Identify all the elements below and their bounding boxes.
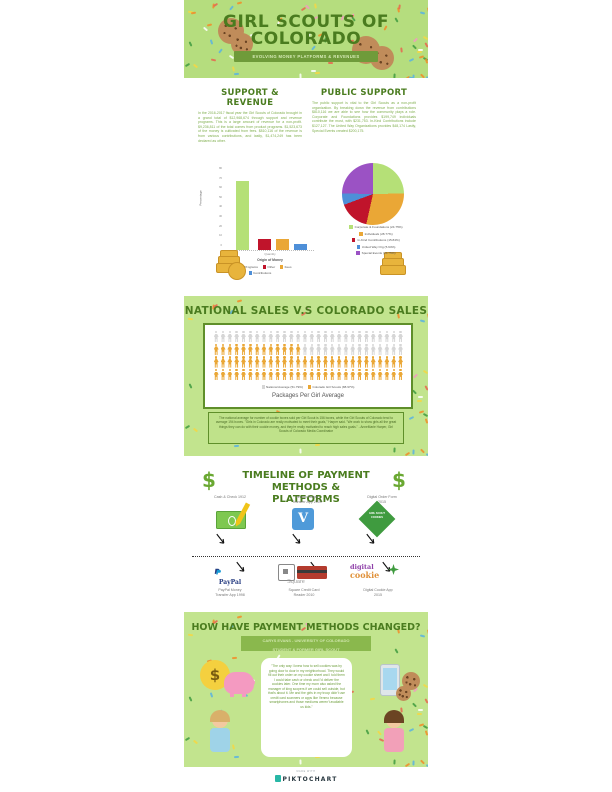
person-icon <box>336 369 342 381</box>
person-icon <box>302 331 308 343</box>
person-icon <box>213 369 219 381</box>
person-icon <box>329 356 335 368</box>
timeline-label-venmo: Venmo Money Transfer App 2009 <box>275 495 339 504</box>
legend-item: Special Events (24.75%) <box>324 250 428 257</box>
person-icon <box>247 356 253 368</box>
person-icon <box>281 344 287 356</box>
y-tick: 0 <box>221 244 222 247</box>
person-icon <box>281 356 287 368</box>
person-icon <box>309 369 315 381</box>
person-icon <box>370 331 376 343</box>
person-icon <box>220 356 226 368</box>
coin-icon <box>380 265 406 275</box>
arrow-down-icon <box>364 532 378 546</box>
person-icon <box>350 331 356 343</box>
hero-title-line-2: COLORADO <box>184 31 428 48</box>
timeline-label-digital-order-form: Digital Order Form 2015 <box>350 495 414 504</box>
person-icon <box>254 369 260 381</box>
person-icon <box>240 331 246 343</box>
coin-icon <box>228 262 246 280</box>
person-icon <box>363 344 369 356</box>
person-icon <box>233 331 239 343</box>
person-icon <box>233 356 239 368</box>
person-icon <box>268 369 274 381</box>
person-icon <box>288 369 294 381</box>
piggy-bank-icon <box>224 672 254 694</box>
person-icon <box>261 331 267 343</box>
person-icon <box>281 369 287 381</box>
legend-swatch <box>349 225 352 229</box>
person-icon <box>336 356 342 368</box>
timeline-title-line-1: TIMELINE OF PAYMENT METHODS & <box>216 470 396 494</box>
person-icon <box>391 331 397 343</box>
legend-label: Fees <box>285 265 292 269</box>
person-icon <box>377 369 383 381</box>
legend-item: Colorado Girl Scouts (88.97%) <box>308 385 354 389</box>
x-axis-tick-label: Quantity <box>226 252 314 256</box>
paypal-logo-icon: PayPal <box>208 564 252 586</box>
girl-illustration <box>380 712 408 752</box>
person-icon <box>397 344 403 356</box>
legend-swatch <box>352 238 355 242</box>
person-icon <box>274 369 280 381</box>
person-icon <box>336 344 342 356</box>
person-icon <box>356 369 362 381</box>
y-tick: 10 <box>219 234 222 237</box>
pictogram-row <box>213 331 403 343</box>
national-sales-section: NATIONAL SALES V.S COLORADO SALES Nation… <box>184 296 428 456</box>
person-icon <box>220 344 226 356</box>
y-tick: 40 <box>219 205 222 208</box>
bar-other <box>258 239 271 250</box>
person-icon <box>268 331 274 343</box>
paypal-wordmark: PayPal <box>208 579 252 586</box>
person-icon <box>322 369 328 381</box>
person-icon <box>315 356 321 368</box>
arrow-down-icon <box>290 532 304 546</box>
person-icon <box>377 356 383 368</box>
pie-chart <box>342 163 404 225</box>
pictogram-caption: Packages Per Girl Average <box>205 393 411 399</box>
timeline-label-cash-check: Cash & Check 1912 <box>198 495 262 500</box>
footer: MADE WITH PIKTOCHART <box>184 767 428 792</box>
person-icon <box>377 344 383 356</box>
person-icon <box>295 369 301 381</box>
square-reader-icon: Square <box>276 564 332 586</box>
person-icon <box>220 369 226 381</box>
person-icon <box>384 356 390 368</box>
public-support-block: PUBLIC SUPPORT The public support is vit… <box>312 88 416 133</box>
person-icon <box>302 344 308 356</box>
person-icon <box>350 344 356 356</box>
cookie-icon <box>396 686 411 701</box>
cookie-word: cookie <box>350 571 404 579</box>
person-icon <box>336 331 342 343</box>
pictogram-grid <box>213 331 403 381</box>
y-tick: 20 <box>219 225 222 228</box>
person-icon <box>261 369 267 381</box>
timeline-label-digital-cookie: Digital Cookie App 2015 <box>346 588 410 597</box>
digital-cookie-logo-icon: digital cookie <box>350 564 404 586</box>
person-icon <box>261 356 267 368</box>
person-icon <box>295 344 301 356</box>
bar-chart: 80 70 60 50 40 30 20 10 0 Percentage Qua… <box>200 168 320 268</box>
label-line-1: Cash & Check 1912 <box>198 495 262 500</box>
person-icon <box>384 369 390 381</box>
hero-subtitle-banner: EVOLVING MONEY PLATFORMS & REVENUES <box>234 51 378 62</box>
bar-chart-y-axis: 80 70 60 50 40 30 20 10 0 Percentage <box>200 168 224 246</box>
person-icon <box>213 331 219 343</box>
person-icon <box>391 344 397 356</box>
person-icon <box>391 369 397 381</box>
person-icon <box>274 331 280 343</box>
person-icon <box>240 344 246 356</box>
person-icon <box>315 369 321 381</box>
bar-chart-plot <box>226 172 314 251</box>
person-icon <box>322 344 328 356</box>
person-icon <box>274 356 280 368</box>
person-icon <box>356 356 362 368</box>
person-icon <box>322 356 328 368</box>
person-icon <box>233 344 239 356</box>
person-icon <box>397 369 403 381</box>
legend-swatch <box>263 265 266 269</box>
legend-label: Colorado Girl Scouts (88.97%) <box>312 385 354 389</box>
person-icon <box>309 331 315 343</box>
infographic-page: GIRL SCOUTS OF COLORADO EVOLVING MONEY P… <box>0 0 612 792</box>
person-icon <box>268 356 274 368</box>
person-icon <box>240 356 246 368</box>
hero-banner: GIRL SCOUTS OF COLORADO EVOLVING MONEY P… <box>184 0 428 78</box>
support-revenue-body: In the 2016-2017 fiscal year the Girl Sc… <box>198 111 302 143</box>
y-axis-label: Percentage <box>199 190 203 205</box>
support-revenue-heading: SUPPORT & REVENUE <box>198 88 302 108</box>
person-icon <box>329 331 335 343</box>
dollar-sign-icon: $ <box>202 468 216 492</box>
infographic-column: GIRL SCOUTS OF COLORADO EVOLVING MONEY P… <box>184 0 428 792</box>
person-icon <box>227 369 233 381</box>
person-icon <box>309 356 315 368</box>
person-icon <box>350 356 356 368</box>
person-icon <box>356 331 362 343</box>
legend-item: National Average (51.79%) <box>262 385 303 389</box>
piktochart-wordmark: PIKTOCHART <box>283 776 338 783</box>
person-icon <box>343 344 349 356</box>
person-icon <box>397 331 403 343</box>
footer-made-with: MADE WITH <box>184 770 428 773</box>
person-icon <box>370 344 376 356</box>
legend-swatch <box>357 245 360 249</box>
person-icon <box>247 369 253 381</box>
legend-swatch <box>262 385 265 389</box>
person-icon <box>343 369 349 381</box>
label-line-2: 2015 <box>350 500 414 505</box>
square-wordmark: Square <box>276 579 316 585</box>
person-icon <box>397 356 403 368</box>
y-tick: 50 <box>219 196 222 199</box>
person-icon <box>356 344 362 356</box>
legend-swatch <box>280 265 283 269</box>
support-revenue-block: SUPPORT & REVENUE In the 2016-2017 fisca… <box>198 88 302 143</box>
pictogram-row <box>213 356 403 368</box>
pictogram-chart: National Average (51.79%) Colorado Girl … <box>203 323 413 409</box>
person-icon <box>363 331 369 343</box>
hero-subtitle: EVOLVING MONEY PLATFORMS & REVENUES <box>234 51 378 62</box>
person-icon <box>261 344 267 356</box>
person-icon <box>240 369 246 381</box>
legend-item: Contributions <box>249 271 272 275</box>
person-icon <box>288 331 294 343</box>
legend-item: Other <box>263 265 275 269</box>
label-line-2: Transfer App 1998 <box>198 593 262 598</box>
person-icon <box>370 369 376 381</box>
person-icon <box>295 356 301 368</box>
person-icon <box>247 331 253 343</box>
pictogram-legend: National Average (51.79%) Colorado Girl … <box>205 385 411 389</box>
attribution-line-2: STUDENT & FORMER GIRL SCOUT <box>241 645 371 654</box>
national-sales-quote: The national average for number of cooki… <box>208 412 404 444</box>
person-icon <box>363 356 369 368</box>
label-line-2: 2015 <box>346 593 410 598</box>
person-icon <box>350 369 356 381</box>
person-icon <box>247 344 253 356</box>
legend-swatch <box>359 232 362 236</box>
person-icon <box>213 356 219 368</box>
page-title: GIRL SCOUTS OF COLORADO <box>184 14 428 48</box>
person-icon <box>213 344 219 356</box>
person-icon <box>233 369 239 381</box>
venmo-letter: V <box>292 508 314 530</box>
y-tick: 80 <box>219 167 222 170</box>
person-icon <box>274 344 280 356</box>
person-icon <box>377 331 383 343</box>
y-tick: 30 <box>219 215 222 218</box>
cookie-box-label: GIRL SCOUT COOKIES <box>364 512 390 525</box>
legend-item: Fees <box>280 265 291 269</box>
legend-label: Special Events (24.75%) <box>362 250 396 257</box>
arrow-down-icon <box>214 532 228 546</box>
public-support-heading: PUBLIC SUPPORT <box>312 88 416 98</box>
person-icon <box>254 331 260 343</box>
person-icon <box>302 369 308 381</box>
person-icon <box>227 356 233 368</box>
timeline-label-square: Square Credit Card Reader 2010 <box>272 588 336 597</box>
bar-product-programs <box>236 181 249 250</box>
quote-attribution-banner: CARYS EVANS - UNIVERSITY OF COLORADO STU… <box>241 636 371 651</box>
person-icon <box>254 356 260 368</box>
person-icon <box>302 356 308 368</box>
quote-section-title: HOW HAVE PAYMENT METHODS CHANGED? <box>184 622 428 633</box>
person-icon <box>288 344 294 356</box>
y-tick: 70 <box>219 177 222 180</box>
quote-bubble: "The only way I knew how to sell cookies… <box>261 658 352 757</box>
y-tick: 60 <box>219 186 222 189</box>
person-icon <box>295 331 301 343</box>
person-icon <box>268 344 274 356</box>
person-icon <box>329 369 335 381</box>
person-icon <box>281 331 287 343</box>
legend-swatch <box>249 271 252 275</box>
person-icon <box>343 356 349 368</box>
bar-contributions <box>294 244 307 250</box>
public-support-body: The public support is vital to the Girl … <box>312 101 416 133</box>
girl-illustration <box>206 712 234 752</box>
quote-section: HOW HAVE PAYMENT METHODS CHANGED? CARYS … <box>184 612 428 767</box>
person-icon <box>254 344 260 356</box>
label-line-2: Reader 2010 <box>272 593 336 598</box>
timeline-label-paypal: PayPal Money Transfer App 1998 <box>198 588 262 597</box>
pictogram-row <box>213 344 403 356</box>
person-icon <box>384 331 390 343</box>
person-icon <box>227 344 233 356</box>
person-icon <box>227 331 233 343</box>
person-icon <box>322 331 328 343</box>
person-icon <box>329 344 335 356</box>
venmo-logo-icon: V <box>292 508 314 530</box>
person-icon <box>343 331 349 343</box>
piktochart-logo[interactable]: PIKTOCHART <box>184 775 428 783</box>
national-sales-title: NATIONAL SALES V.S COLORADO SALES <box>184 305 428 317</box>
pictogram-row <box>213 369 403 381</box>
legend-label: Contributions <box>253 271 271 275</box>
legend-label: National Average (51.79%) <box>266 385 303 389</box>
person-icon <box>220 331 226 343</box>
piktochart-mark-icon <box>275 775 281 782</box>
person-icon <box>315 331 321 343</box>
person-icon <box>370 356 376 368</box>
person-icon <box>363 369 369 381</box>
legend-swatch <box>308 385 311 389</box>
person-icon <box>384 344 390 356</box>
legend-label: Other <box>267 265 275 269</box>
person-icon <box>391 356 397 368</box>
person-icon <box>288 356 294 368</box>
legend-swatch <box>356 251 359 255</box>
label-line-2: Transfer App 2009 <box>275 500 339 505</box>
person-icon <box>315 344 321 356</box>
pie-chart-legend: Corporate & Foundations (24.75%) Individ… <box>324 224 428 257</box>
attribution-line-1: CARYS EVANS - UNIVERSITY OF COLORADO <box>241 636 371 645</box>
person-icon <box>309 344 315 356</box>
bar-fees <box>276 239 289 250</box>
timeline-axis <box>192 556 420 557</box>
